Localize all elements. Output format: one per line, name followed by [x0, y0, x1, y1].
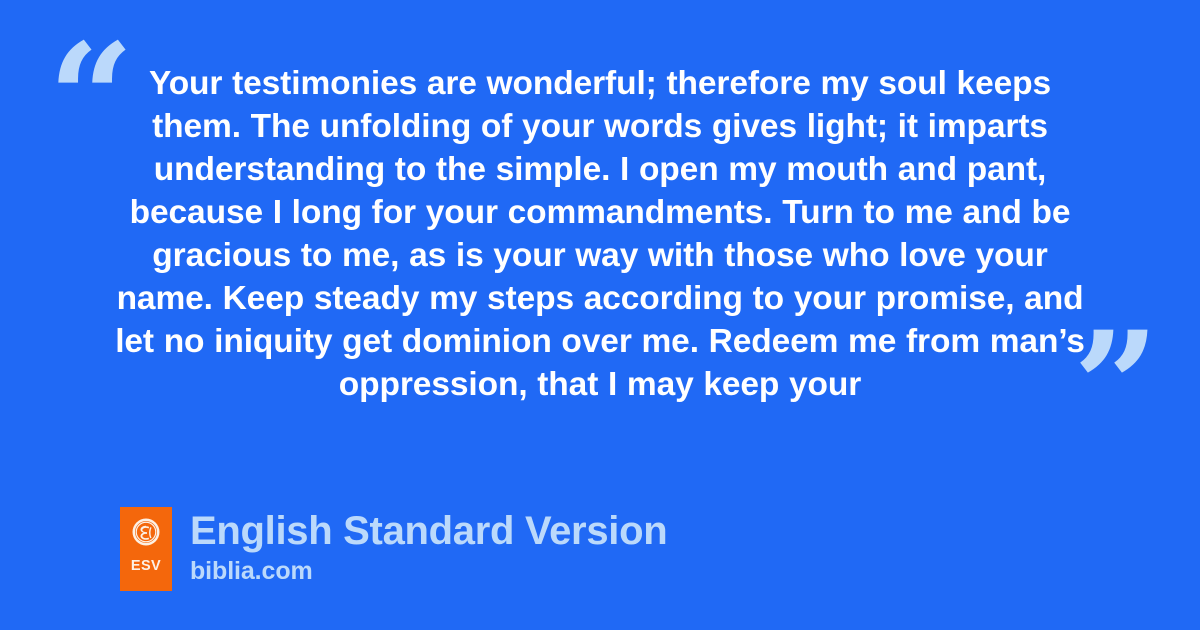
site-name: biblia.com [190, 557, 667, 585]
quote-block: Your testimonies are wonderful; therefor… [100, 62, 1100, 406]
quote-card: “ Your testimonies are wonderful; theref… [0, 0, 1200, 630]
quote-text: Your testimonies are wonderful; therefor… [100, 62, 1100, 406]
branding-text: English Standard Version biblia.com [190, 507, 667, 585]
edition-name: English Standard Version [190, 509, 667, 553]
branding: ESV English Standard Version biblia.com [120, 507, 667, 591]
esv-seal-icon [130, 516, 162, 548]
closing-quotation-mark-icon: ” [1073, 312, 1158, 462]
esv-logo-label: ESV [131, 559, 161, 574]
esv-logo: ESV [120, 507, 172, 591]
